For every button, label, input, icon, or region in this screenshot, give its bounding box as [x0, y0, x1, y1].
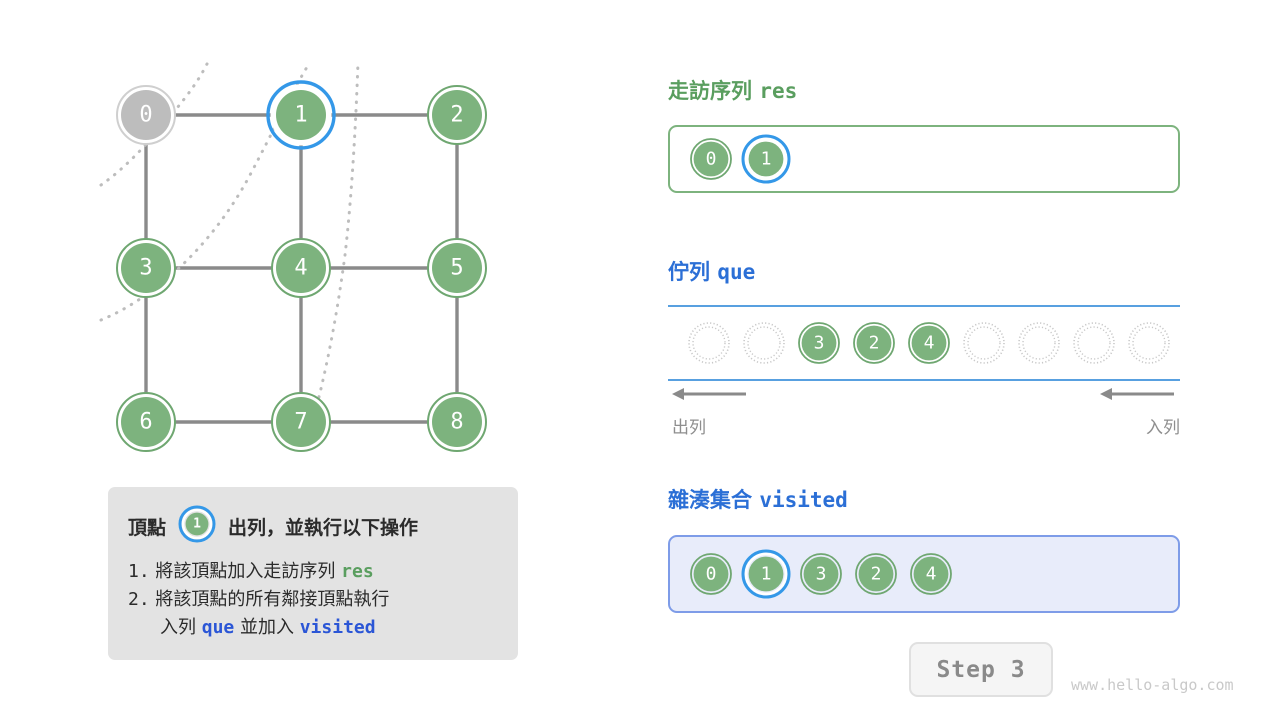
caption-step-2-code-visited: visited — [300, 617, 376, 638]
que-slots-item — [1012, 316, 1066, 370]
caption-title: 頂點 1 出列，並執行以下操作 — [128, 503, 498, 550]
que-section-title: 佇列 que — [668, 256, 755, 286]
visited-title-cn: 雜湊集合 — [668, 488, 752, 512]
que-slots-item — [682, 316, 736, 370]
enqueue-arrow-icon — [1100, 385, 1176, 408]
svg-text:4: 4 — [926, 564, 937, 585]
graph-node-1[interactable]: 1 — [268, 82, 334, 148]
graph-node-5[interactable]: 5 — [428, 239, 486, 297]
svg-text:0: 0 — [706, 564, 717, 585]
graph-node-3[interactable]: 3 — [117, 239, 175, 297]
graph-node-2[interactable]: 2 — [428, 86, 486, 144]
res-container: 01 — [668, 125, 1180, 193]
caption-step-1-text: 將該頂點加入走訪序列 — [155, 561, 335, 582]
graph-node-label: 0 — [139, 103, 152, 128]
svg-text:4: 4 — [924, 333, 935, 354]
dequeue-arrow-icon — [672, 385, 748, 408]
res-box-item: 1 — [739, 132, 793, 186]
svg-text:3: 3 — [816, 564, 827, 585]
visited-container: 01324 — [668, 535, 1180, 613]
res-title-code: res — [759, 79, 797, 103]
caption-step-2-code-que: que — [202, 617, 235, 638]
que-slots-item — [957, 316, 1011, 370]
svg-text:1: 1 — [761, 564, 772, 585]
visited-title-code: visited — [759, 488, 848, 512]
caption-suffix: 出列，並執行以下操作 — [228, 513, 418, 540]
caption-step-2-number: 2. — [128, 589, 150, 610]
graph-node-0[interactable]: 0 — [117, 86, 175, 144]
que-slots-item: 3 — [792, 316, 846, 370]
visited-box-item: 2 — [849, 547, 903, 601]
res-section-title: 走訪序列 res — [668, 75, 797, 105]
graph-canvas: 012345678 — [0, 0, 620, 500]
graph-node-6[interactable]: 6 — [117, 393, 175, 451]
visited-box-item: 1 — [739, 547, 793, 601]
caption-step-2-text: 將該頂點的所有鄰接頂點執行 — [155, 589, 389, 610]
visited-box-item: 4 — [904, 547, 958, 601]
queue-slots: 324 — [668, 307, 1180, 379]
svg-text:1: 1 — [761, 149, 772, 170]
caption-step-2-continuation: 入列 que 並加入 visited — [128, 614, 498, 642]
caption-step-1-number: 1. — [128, 561, 150, 582]
visited-box-item: 3 — [794, 547, 848, 601]
queue-container: 324 — [668, 305, 1180, 381]
visited-box-item: 0 — [684, 547, 738, 601]
visited-section-title: 雜湊集合 visited — [668, 484, 848, 514]
graph-node-7[interactable]: 7 — [272, 393, 330, 451]
queue-direction-labels: 出列 入列 — [668, 385, 1180, 445]
graph-node-label: 6 — [139, 410, 152, 435]
svg-text:2: 2 — [869, 333, 880, 354]
caption-step-1: 1. 將該頂點加入走訪序列 res — [128, 558, 498, 586]
caption-inline-node: 1 — [176, 503, 218, 550]
svg-text:1: 1 — [193, 517, 201, 532]
graph-node-label: 5 — [450, 256, 463, 281]
graph-node-label: 7 — [294, 410, 307, 435]
caption-step-2-text-1: 入列 — [160, 617, 196, 638]
graph-node-label: 4 — [294, 256, 307, 281]
enqueue-label: 入列 — [1146, 413, 1180, 438]
graph-node-label: 1 — [294, 103, 307, 128]
que-slots-item: 2 — [847, 316, 901, 370]
graph-node-label: 8 — [450, 410, 463, 435]
que-slots-item — [1122, 316, 1176, 370]
watermark: www.hello-algo.com — [1071, 676, 1234, 694]
res-title-cn: 走訪序列 — [668, 79, 752, 103]
svg-text:0: 0 — [706, 149, 717, 170]
que-slots-item: 4 — [902, 316, 956, 370]
caption-box: 頂點 1 出列，並執行以下操作 1. 將該頂點加入走訪序列 res 2. 將該頂… — [108, 487, 518, 660]
svg-text:3: 3 — [814, 333, 825, 354]
que-slots-item — [737, 316, 791, 370]
graph-node-4[interactable]: 4 — [272, 239, 330, 297]
caption-step-2-text-2: 並加入 — [240, 617, 294, 638]
step-badge: Step 3 — [909, 642, 1053, 697]
caption-prefix: 頂點 — [128, 513, 166, 540]
res-box-item: 0 — [684, 132, 738, 186]
caption-step-1-code: res — [341, 561, 374, 582]
svg-text:2: 2 — [871, 564, 882, 585]
que-slots-item — [1067, 316, 1121, 370]
graph-node-8[interactable]: 8 — [428, 393, 486, 451]
graph-node-label: 3 — [139, 256, 152, 281]
que-title-cn: 佇列 — [668, 260, 710, 284]
queue-bottom-rule — [668, 379, 1180, 381]
que-title-code: que — [717, 260, 755, 284]
caption-step-2: 2. 將該頂點的所有鄰接頂點執行 — [128, 586, 498, 614]
graph-node-label: 2 — [450, 103, 463, 128]
dequeue-label: 出列 — [672, 413, 706, 438]
right-panel: 走訪序列 res 01 佇列 que 324 出列 入列 雜湊集合 visite — [660, 0, 1280, 720]
